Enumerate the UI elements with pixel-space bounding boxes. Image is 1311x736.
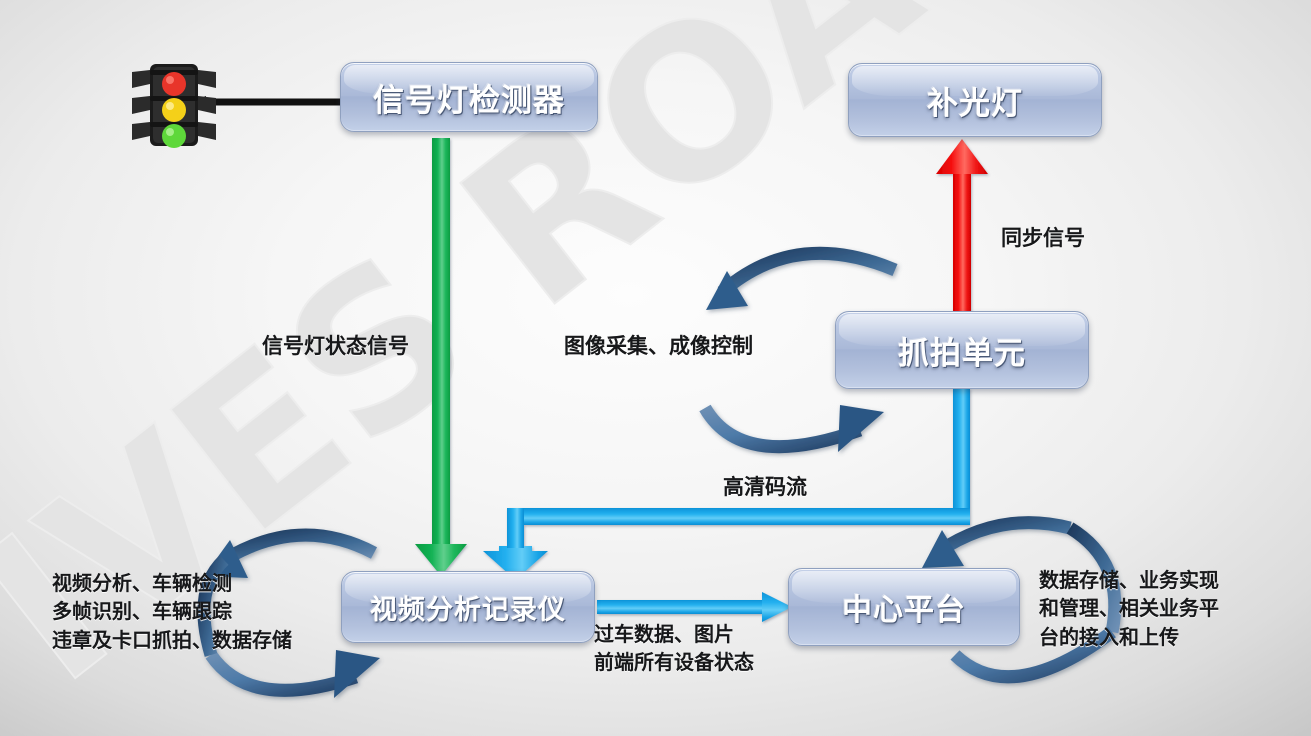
node-video-analysis-recorder[interactable]: 视频分析记录仪 [341,571,595,643]
annotation-signal-state: 信号灯状态信号 [262,333,409,360]
node-capture-unit-label: 抓拍单元 [898,328,1026,373]
traffic-light-green [162,124,186,148]
traffic-light-yellow [162,98,186,122]
annotation-right-functions: 数据存储、业务实现 和管理、相关业务平 台的接入和上传 [1039,566,1219,651]
connector-green-signal-state [415,138,467,576]
node-signal-light-detector-label: 信号灯检测器 [373,75,565,120]
annotation-hd-stream: 高清码流 [723,474,807,501]
node-fill-light-label: 补光灯 [927,78,1023,123]
node-center-platform[interactable]: 中心平台 [788,568,1020,646]
annotation-pass-data: 过车数据、图片 前端所有设备状态 [594,620,754,676]
node-fill-light[interactable]: 补光灯 [848,63,1102,137]
annotation-image-capture: 图像采集、成像控制 [564,333,753,360]
connector-blue-pass-data [597,592,792,622]
traffic-light-icon [128,58,220,150]
node-video-analysis-recorder-label: 视频分析记录仪 [370,588,566,627]
node-signal-light-detector[interactable]: 信号灯检测器 [340,62,598,132]
traffic-light-red [162,72,186,96]
annotation-left-functions: 视频分析、车辆检测 多帧识别、车辆跟踪 违章及卡口抓拍、数据存储 [52,569,292,654]
node-center-platform-label: 中心平台 [842,585,966,629]
annotation-sync-signal: 同步信号 [1001,225,1085,252]
connector-red-sync-signal [936,139,988,312]
diagram-canvas: IVES ROAD [0,0,1311,736]
node-capture-unit[interactable]: 抓拍单元 [835,311,1089,389]
